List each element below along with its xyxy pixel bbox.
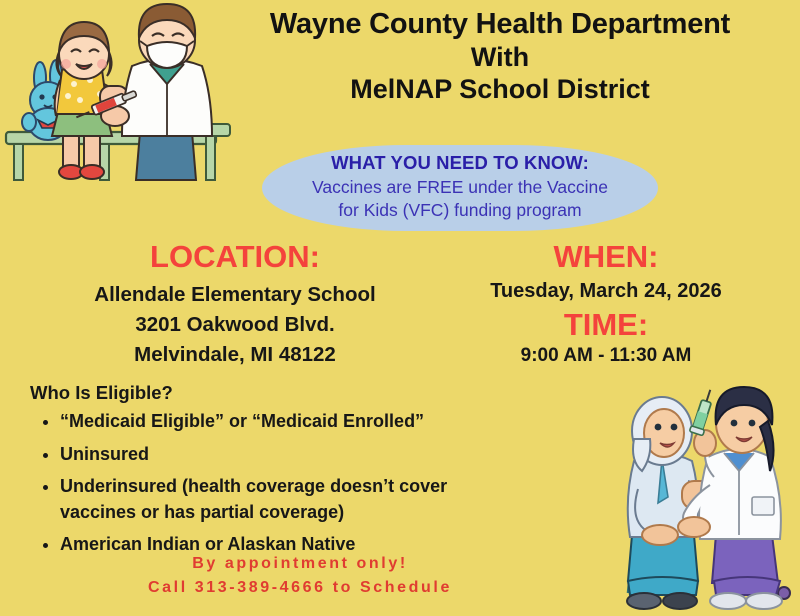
appointment-footer: By appointment only! Call 313-389-4666 t… (40, 552, 560, 600)
footer-line-appointment: By appointment only! (40, 552, 560, 576)
location-street: 3201 Oakwood Blvd. (35, 310, 435, 340)
when-section: WHEN: Tuesday, March 24, 2026 TIME: 9:00… (446, 240, 766, 367)
title-line-district: MelNAP School District (205, 74, 795, 106)
list-item: Underinsured (health coverage doesn’t co… (60, 474, 500, 525)
eligibility-list: “Medicaid Eligible” or “Medicaid Enrolle… (30, 409, 500, 558)
doctor-vaccinating-child-illustration (0, 0, 232, 182)
title-line-with: With (205, 42, 795, 74)
when-label: WHEN: (446, 240, 766, 274)
info-callout-heading: WHAT YOU NEED TO KNOW: (331, 152, 589, 174)
info-callout-line-2: for Kids (VFC) funding program (312, 199, 608, 222)
list-item: Uninsured (60, 442, 500, 468)
info-callout-box: WHAT YOU NEED TO KNOW: Vaccines are FREE… (262, 145, 658, 231)
event-time: 9:00 AM - 11:30 AM (446, 345, 766, 367)
title-line-organization: Wayne County Health Department (205, 8, 795, 42)
time-label: TIME: (446, 308, 766, 342)
info-callout-line-1: Vaccines are FREE under the Vaccine (312, 176, 608, 199)
location-city-state-zip: Melvindale, MI 48122 (35, 340, 435, 370)
flyer-canvas: Wayne County Health Department With MelN… (0, 0, 800, 616)
eligibility-title: Who Is Eligible? (30, 382, 500, 404)
event-date: Tuesday, March 24, 2026 (446, 278, 766, 304)
footer-line-phone: Call 313-389-4666 to Schedule (40, 576, 560, 600)
eligibility-section: Who Is Eligible? “Medicaid Eligible” or … (30, 382, 500, 565)
flyer-title: Wayne County Health Department With MelN… (205, 8, 795, 105)
location-venue: Allendale Elementary School (35, 280, 435, 310)
nurse-vaccinating-woman-illustration (598, 385, 800, 616)
location-section: LOCATION: Allendale Elementary School 32… (35, 240, 435, 369)
list-item: “Medicaid Eligible” or “Medicaid Enrolle… (60, 409, 500, 435)
location-label: LOCATION: (35, 240, 435, 274)
